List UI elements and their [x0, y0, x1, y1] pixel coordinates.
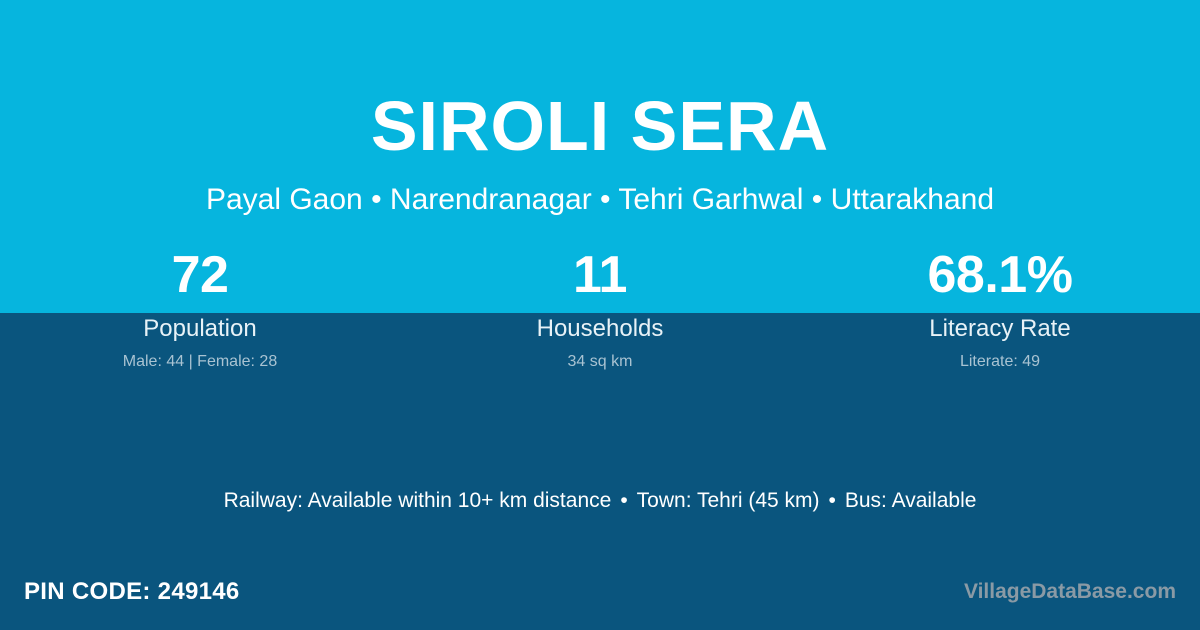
stat-households-label: Households — [400, 312, 800, 346]
infra-separator-1: • — [611, 486, 636, 516]
stat-households: 11 Households 34 sq km — [400, 244, 800, 374]
stat-literacy-value: 68.1% — [800, 244, 1200, 306]
village-info-card: SIROLI SERA Payal Gaon • Narendranagar •… — [0, 0, 1200, 630]
stat-population-label: Population — [0, 312, 400, 346]
stat-literacy-label: Literacy Rate — [800, 312, 1200, 346]
infra-railway: Railway: Available within 10+ km distanc… — [224, 489, 612, 512]
breadcrumb: Payal Gaon • Narendranagar • Tehri Garhw… — [0, 180, 1200, 220]
page-title: SIROLI SERA — [0, 84, 1200, 168]
infra-bus: Bus: Available — [845, 489, 977, 512]
stat-population: 72 Population Male: 44 | Female: 28 — [0, 244, 400, 374]
stat-population-sub: Male: 44 | Female: 28 — [0, 350, 400, 374]
infra-town: Town: Tehri (45 km) — [637, 489, 820, 512]
infrastructure-line: Railway: Available within 10+ km distanc… — [0, 486, 1200, 516]
stat-households-sub: 34 sq km — [400, 350, 800, 374]
stat-households-value: 11 — [400, 244, 800, 306]
brand-watermark: VillageDataBase.com — [964, 578, 1176, 606]
stats-row: 72 Population Male: 44 | Female: 28 11 H… — [0, 244, 1200, 374]
footer: PIN CODE: 249146 VillageDataBase.com — [0, 570, 1200, 614]
stat-literacy: 68.1% Literacy Rate Literate: 49 — [800, 244, 1200, 374]
stat-literacy-sub: Literate: 49 — [800, 350, 1200, 374]
pin-code: PIN CODE: 249146 — [24, 577, 240, 607]
stat-population-value: 72 — [0, 244, 400, 306]
infra-separator-2: • — [820, 486, 845, 516]
